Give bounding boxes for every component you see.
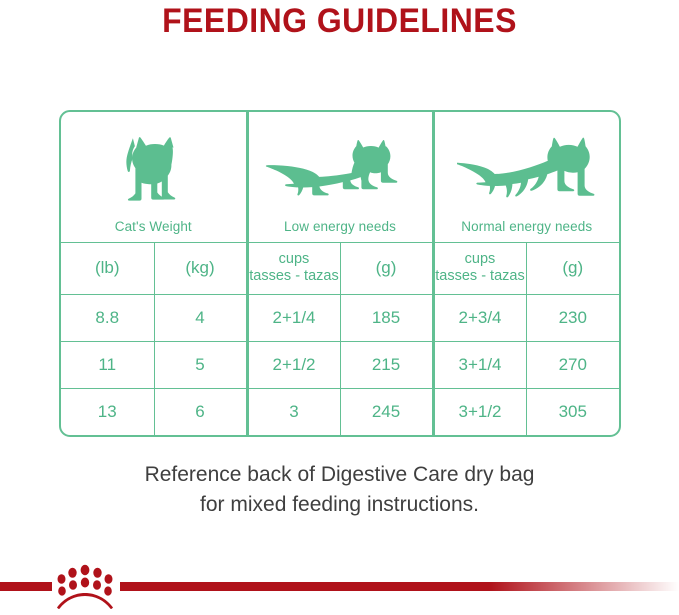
- footer-bar-right: [120, 582, 679, 591]
- cell-normal-cups: 2+3/4: [433, 294, 526, 341]
- reference-note: Reference back of Digestive Care dry bag…: [0, 460, 679, 520]
- subheader-cell-normal-cups: cups tasses - tazas: [433, 242, 526, 294]
- walking-cat-icon: [457, 134, 597, 212]
- header-cell-normal-energy: Normal energy needs: [433, 112, 619, 242]
- cell-normal-grams: 305: [526, 388, 619, 435]
- footer-brand-bar: [0, 555, 679, 615]
- standing-cat-icon: [112, 132, 194, 212]
- cell-low-cups: 2+1/4: [247, 294, 340, 341]
- feeding-guidelines-table: Cat's Weight Low energy needs: [59, 110, 621, 437]
- table-header-row: Cat's Weight Low energy needs: [61, 112, 619, 242]
- header-label-low-energy: Low energy needs: [284, 219, 396, 234]
- subheader-label-normal-cups-alt: tasses - tazas: [435, 268, 526, 285]
- subheader-cell-low-grams: (g): [340, 242, 433, 294]
- table-row: 8.8 4 2+1/4 185 2+3/4 230: [61, 294, 619, 341]
- reference-line-2: for mixed feeding instructions.: [0, 490, 679, 520]
- header-label-cat-weight: Cat's Weight: [115, 219, 192, 234]
- cell-weight-kg: 5: [154, 341, 247, 388]
- header-cell-low-energy: Low energy needs: [247, 112, 433, 242]
- cell-normal-grams: 230: [526, 294, 619, 341]
- subheader-label-low-cups: cups: [249, 251, 340, 268]
- cell-low-cups: 2+1/2: [247, 341, 340, 388]
- page-title: FEEDING GUIDELINES: [20, 2, 658, 41]
- subheader-cell-normal-grams: (g): [526, 242, 619, 294]
- subheader-cell-lb: (lb): [61, 242, 154, 294]
- cell-weight-lb: 11: [61, 341, 154, 388]
- table-subheader-row: (lb) (kg) cups tasses - tazas (g) cups: [61, 242, 619, 294]
- feeding-guidelines-panel: FEEDING GUIDELINES Cat's Weight: [0, 0, 679, 615]
- header-cell-cat-weight: Cat's Weight: [61, 112, 247, 242]
- subheader-label-kg: (kg): [185, 258, 214, 277]
- cell-low-grams: 215: [340, 341, 433, 388]
- subheader-label-normal-cups: cups: [435, 251, 526, 268]
- cell-weight-lb: 13: [61, 388, 154, 435]
- table-row: 11 5 2+1/2 215 3+1/4 270: [61, 341, 619, 388]
- cell-low-grams: 245: [340, 388, 433, 435]
- cell-low-cups: 3: [247, 388, 340, 435]
- subheader-cell-kg: (kg): [154, 242, 247, 294]
- cell-weight-kg: 4: [154, 294, 247, 341]
- subheader-cell-low-cups: cups tasses - tazas: [247, 242, 340, 294]
- cell-weight-kg: 6: [154, 388, 247, 435]
- lying-cat-icon: [265, 140, 415, 212]
- subheader-label-normal-grams: (g): [562, 258, 583, 277]
- cell-normal-cups: 3+1/2: [433, 388, 526, 435]
- cell-normal-cups: 3+1/4: [433, 341, 526, 388]
- cell-low-grams: 185: [340, 294, 433, 341]
- header-label-normal-energy: Normal energy needs: [461, 219, 592, 234]
- royal-canin-crown-logo: [53, 561, 117, 609]
- subheader-label-lb: (lb): [95, 258, 120, 277]
- cell-weight-lb: 8.8: [61, 294, 154, 341]
- table-row: 13 6 3 245 3+1/2 305: [61, 388, 619, 435]
- reference-line-1: Reference back of Digestive Care dry bag: [0, 460, 679, 490]
- cell-normal-grams: 270: [526, 341, 619, 388]
- subheader-label-low-cups-alt: tasses - tazas: [249, 268, 340, 285]
- footer-bar-left: [0, 582, 52, 591]
- subheader-label-low-grams: (g): [376, 258, 397, 277]
